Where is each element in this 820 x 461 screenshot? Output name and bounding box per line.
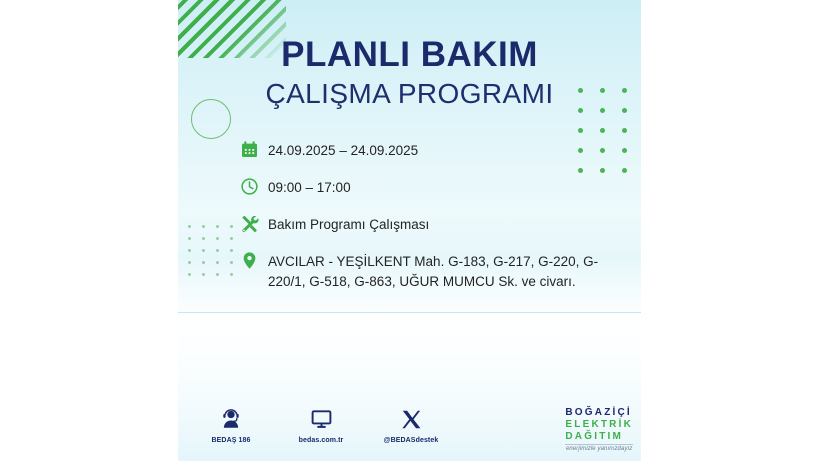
detail-date-value: 24.09.2025 – 24.09.2025 (268, 140, 418, 160)
bedas-logo: BOĞAZİÇİ ELEKTRİK DAĞITIM enerjimizle ya… (565, 407, 633, 452)
contact-channels: BEDAŞ 186 bedas.com.tr (200, 406, 442, 444)
contact-phone-label: BEDAŞ 186 (200, 437, 262, 444)
maintenance-details-list: 24.09.2025 – 24.09.2025 09:00 – 17:00 (240, 140, 630, 293)
contact-website-label: bedas.com.tr (290, 437, 352, 444)
x-twitter-icon (380, 406, 442, 432)
monitor-icon (290, 406, 352, 432)
contact-twitter-label: @BEDASdestek (380, 437, 442, 444)
contact-website[interactable]: bedas.com.tr (290, 406, 352, 444)
brand-tagline: enerjimizle yanınızdayız (565, 444, 633, 452)
detail-row-time: 09:00 – 17:00 (240, 177, 630, 199)
page-title: PLANLI BAKIM ÇALIŞMA PROGRAMI (178, 37, 641, 110)
detail-row-location: AVCILAR - YEŞİLKENT Mah. G-183, G-217, G… (240, 251, 630, 293)
clock-icon (240, 177, 268, 199)
contact-phone[interactable]: BEDAŞ 186 (200, 406, 262, 444)
detail-location-value: AVCILAR - YEŞİLKENT Mah. G-183, G-217, G… (268, 251, 630, 293)
brand-line-2: ELEKTRİK (565, 419, 633, 431)
brand-line-1: BOĞAZİÇİ (565, 407, 633, 419)
planned-maintenance-poster: PLANLI BAKIM ÇALIŞMA PROGRAMI (178, 0, 641, 461)
tools-icon (240, 214, 268, 236)
detail-time-value: 09:00 – 17:00 (268, 177, 351, 197)
screenshot-root: PLANLI BAKIM ÇALIŞMA PROGRAMI (0, 0, 820, 461)
band-seam-line (178, 312, 641, 313)
detail-row-worktype: Bakım Programı Çalışması (240, 214, 630, 236)
detail-worktype-value: Bakım Programı Çalışması (268, 214, 429, 234)
contact-twitter[interactable]: @BEDASdestek (380, 406, 442, 444)
calendar-icon (240, 140, 268, 162)
title-primary: PLANLI BAKIM (178, 37, 641, 74)
dot-grid-left-decoration (188, 225, 244, 285)
location-pin-icon (240, 251, 268, 273)
brand-line-3: DAĞITIM (565, 431, 633, 443)
title-secondary: ÇALIŞMA PROGRAMI (178, 78, 641, 110)
detail-row-date: 24.09.2025 – 24.09.2025 (240, 140, 630, 162)
support-agent-icon (200, 406, 262, 432)
poster-footer: BEDAŞ 186 bedas.com.tr (178, 402, 641, 461)
